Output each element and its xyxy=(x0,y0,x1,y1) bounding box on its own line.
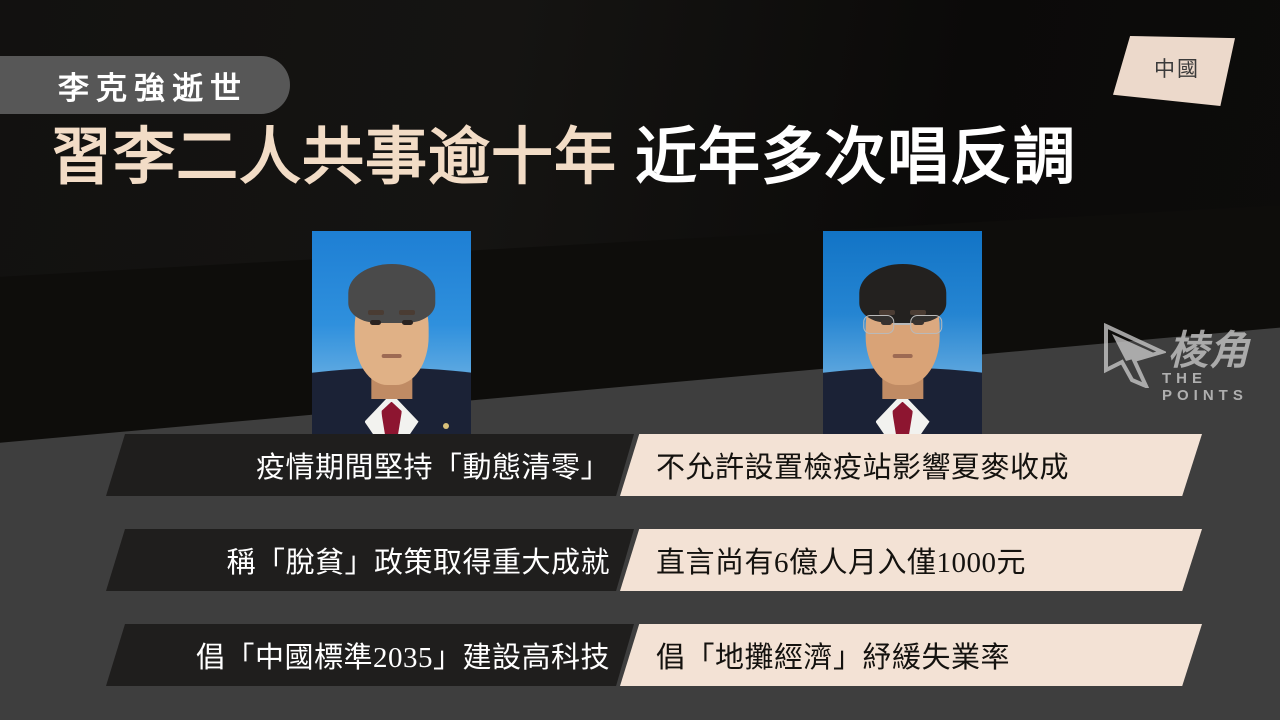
row-right-cell: 倡「地攤經濟」紓緩失業率 xyxy=(620,624,1202,686)
glasses-lens-left xyxy=(863,315,895,334)
row-left-text: 稱「脫貧」政策取得重大成就 xyxy=(226,539,610,581)
brand-logo-cn: 棱角 xyxy=(1168,318,1250,376)
row-right-text: 直言尚有6億人月入僅1000元 xyxy=(656,539,1026,581)
mouth-shape xyxy=(381,354,402,358)
kicker-pill: 李克強逝世 xyxy=(0,56,290,114)
brand-logo-en: THE POINTS xyxy=(1162,370,1272,404)
headline-part-a: 習李二人共事逾十年 xyxy=(50,124,617,192)
row-right-cell: 不允許設置檢疫站影響夏麥收成 xyxy=(620,434,1202,496)
eyebrow-right xyxy=(399,310,415,315)
eye-right xyxy=(402,320,413,325)
infographic-canvas: 中國 李克強逝世 習李二人共事逾十年近年多次唱反調 xyxy=(0,0,1280,720)
glasses-bridge xyxy=(895,323,911,325)
brand-logo: 棱角 THE POINTS xyxy=(1104,318,1272,402)
headline-part-b: 近年多次唱反調 xyxy=(635,124,1076,192)
kicker-label: 李克強逝世 xyxy=(58,63,248,108)
row-left-cell: 疫情期間堅持「動態清零」 xyxy=(106,434,634,496)
hair-shape xyxy=(859,264,946,322)
table-row: 疫情期間堅持「動態清零」 不允許設置檢疫站影響夏麥收成 xyxy=(106,434,1202,496)
eye-left xyxy=(370,320,381,325)
mouth-shape xyxy=(892,354,913,358)
row-left-cell: 稱「脫貧」政策取得重大成就 xyxy=(106,529,634,591)
category-tag-label: 中國 xyxy=(1154,53,1200,83)
row-right-text: 倡「地攤經濟」紓緩失業率 xyxy=(656,634,1010,676)
glasses-icon xyxy=(863,315,943,334)
hair-shape xyxy=(348,264,435,322)
table-row: 倡「中國標準2035」建設高科技 倡「地攤經濟」紓緩失業率 xyxy=(106,624,1202,686)
row-left-cell: 倡「中國標準2035」建設高科技 xyxy=(106,624,634,686)
li-keqiang-portrait xyxy=(823,231,982,439)
row-right-cell: 直言尚有6億人月入僅1000元 xyxy=(620,529,1202,591)
xi-jinping-portrait xyxy=(312,231,471,439)
eyebrow-left xyxy=(368,310,384,315)
table-row: 稱「脫貧」政策取得重大成就 直言尚有6億人月入僅1000元 xyxy=(106,529,1202,591)
row-left-text: 疫情期間堅持「動態清零」 xyxy=(256,444,610,486)
lapel-pin-icon xyxy=(443,423,449,429)
category-tag: 中國 xyxy=(1113,36,1235,106)
glasses-lens-right xyxy=(910,315,942,334)
arrow-pointer-icon xyxy=(1104,322,1166,388)
row-right-text: 不允許設置檢疫站影響夏麥收成 xyxy=(656,444,1069,486)
page-title: 習李二人共事逾十年近年多次唱反調 xyxy=(50,126,1076,191)
row-left-text: 倡「中國標準2035」建設高科技 xyxy=(196,634,610,676)
